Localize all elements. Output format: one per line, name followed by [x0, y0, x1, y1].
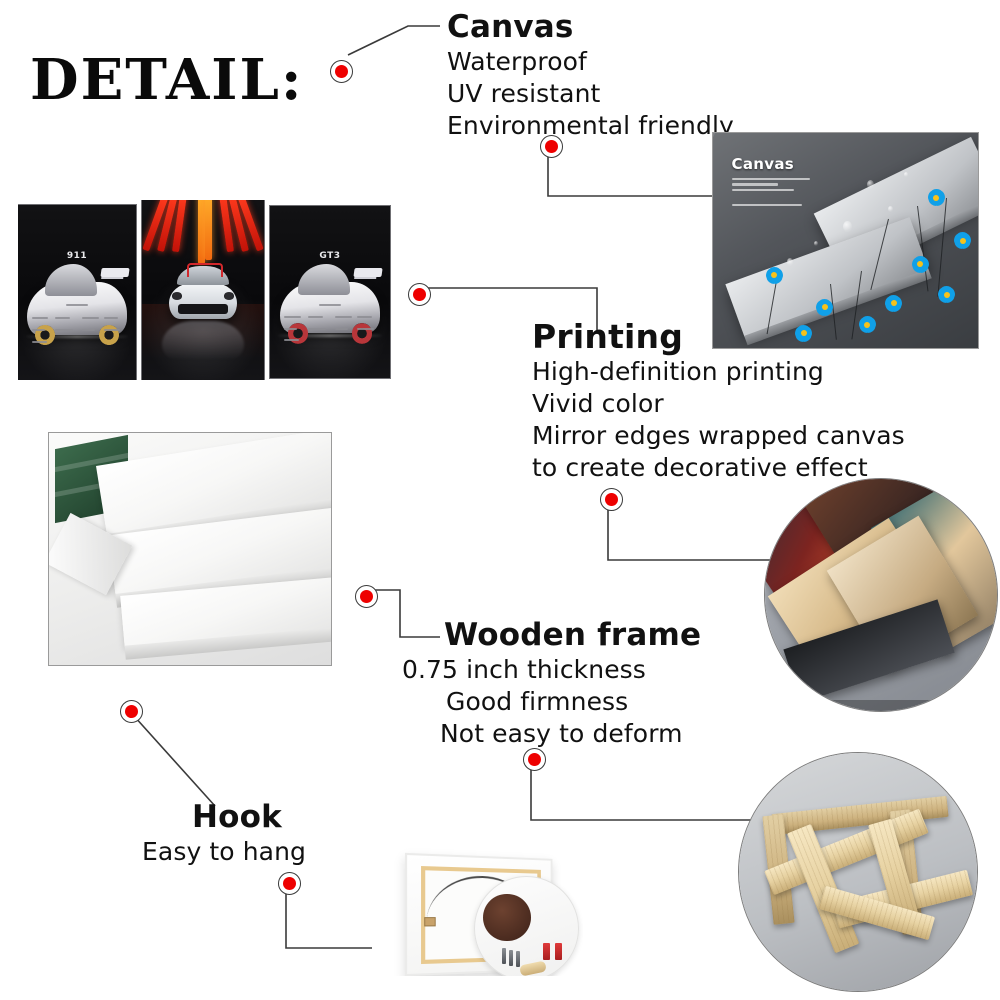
hook-image — [385, 848, 583, 976]
callout-hook-heading: Hook — [192, 800, 306, 836]
infographic-canvas: DETAIL: Canvas Waterproof — [0, 0, 1000, 1000]
callout-canvas-heading: Canvas — [447, 10, 734, 46]
line-canvas-photo — [548, 152, 712, 196]
line-canvas-text — [348, 26, 440, 55]
line-hook-text — [134, 716, 215, 806]
callout-printing-line-1: High-definition printing — [532, 356, 905, 388]
marker-wooden-frame[interactable] — [355, 585, 378, 608]
marker-hook-photo[interactable] — [278, 872, 301, 895]
page-title: DETAIL: — [30, 52, 304, 108]
callout-printing-line-2: Vivid color — [532, 388, 905, 420]
hook-hardware-inset — [474, 876, 579, 976]
callout-printing-line-3: Mirror edges wrapped canvas — [532, 420, 905, 452]
callout-wooden-frame-line-2: Good firmness — [446, 686, 701, 718]
poster-panel-right: GT3 — [270, 206, 390, 378]
callout-canvas-line-3: Environmental friendly — [447, 110, 734, 142]
poster-triptych-image: 911 — [18, 200, 393, 380]
poster-panel-center — [142, 200, 264, 380]
marker-printing[interactable] — [408, 283, 431, 306]
wooden-frame-image — [738, 752, 978, 992]
marker-wooden-photo[interactable] — [523, 748, 546, 771]
callout-wooden-frame-heading: Wooden frame — [444, 618, 701, 654]
canvas-stack-image — [48, 432, 332, 666]
callout-wooden-frame-line-3: Not easy to deform — [440, 718, 701, 750]
canvas-sample-overlay-detail-lines — [732, 178, 810, 207]
line-wooden-frame-photo — [531, 765, 770, 820]
line-hook-photo — [286, 889, 372, 948]
poster-left-code: 911 — [67, 251, 87, 261]
marker-mirror-edge[interactable] — [600, 488, 623, 511]
callout-wooden-frame-line-1: 0.75 inch thickness — [402, 654, 701, 686]
canvas-sample-overlay: Canvas — [732, 155, 810, 210]
poster-panel-left: 911 — [18, 205, 136, 380]
callout-canvas-line-2: UV resistant — [447, 78, 734, 110]
poster-right-code: GT3 — [319, 251, 340, 261]
marker-hook-text[interactable] — [120, 700, 143, 723]
callout-wooden-frame: Wooden frame 0.75 inch thickness Good fi… — [398, 618, 701, 750]
canvas-sample-image: Canvas — [712, 132, 979, 349]
canvas-sample-overlay-label: Canvas — [732, 155, 810, 173]
callout-hook: Hook Easy to hang — [142, 800, 306, 868]
mirror-edge-image — [764, 478, 998, 712]
callout-canvas: Canvas Waterproof UV resistant Environme… — [447, 10, 734, 142]
callout-canvas-line-1: Waterproof — [447, 46, 734, 78]
callout-hook-line-1: Easy to hang — [142, 836, 306, 868]
marker-canvas-text[interactable] — [330, 60, 353, 83]
line-mirror-edge — [608, 505, 788, 560]
